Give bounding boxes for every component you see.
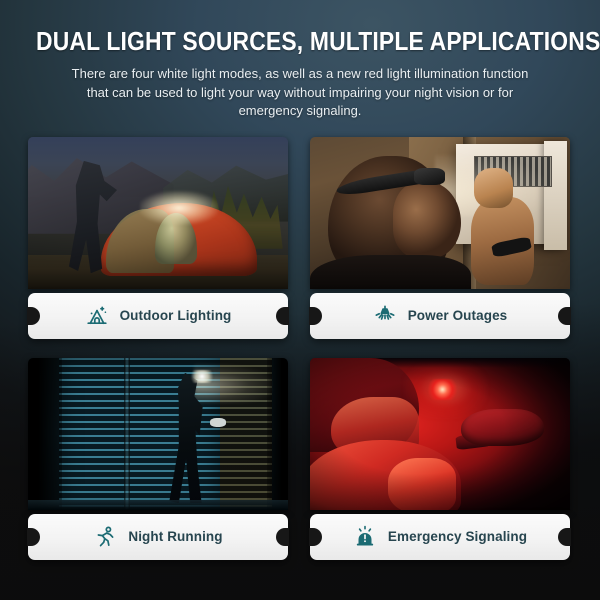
card-label-bar-power-outages: Power Outages [310, 293, 570, 339]
card-label-bar-emergency-signaling: Emergency Signaling [310, 514, 570, 560]
tent-icon [85, 304, 109, 328]
poster-header: DUAL LIGHT SOURCES, MULTIPLE APPLICATION… [0, 0, 600, 121]
card-label-night-running: Night Running [128, 529, 222, 544]
card-label-bar-night-running: Night Running [28, 514, 288, 560]
card-night-running[interactable]: Night Running [28, 358, 288, 560]
card-label-bar-outdoor-lighting: Outdoor Lighting [28, 293, 288, 339]
ticket-notch-right-icon [558, 307, 571, 325]
card-image-night-running [28, 358, 288, 510]
ceiling-lamp-icon [373, 304, 397, 328]
card-outdoor-lighting[interactable]: Outdoor Lighting [28, 137, 288, 339]
card-label-power-outages: Power Outages [408, 308, 508, 323]
ticket-notch-right-icon [276, 307, 289, 325]
card-label-outdoor-lighting: Outdoor Lighting [120, 308, 232, 323]
page-subtitle: There are four white light modes, as wel… [65, 65, 535, 121]
card-label-emergency-signaling: Emergency Signaling [388, 529, 527, 544]
card-image-power-outages [310, 137, 570, 289]
ticket-notch-right-icon [276, 528, 289, 546]
page-title: DUAL LIGHT SOURCES, MULTIPLE APPLICATION… [36, 26, 564, 56]
ticket-notch-right-icon [558, 528, 571, 546]
application-card-grid: Outdoor Lighting [28, 137, 572, 560]
card-emergency-signaling[interactable]: Emergency Signaling [310, 358, 570, 560]
running-person-icon [93, 525, 117, 549]
ticket-notch-left-icon [27, 307, 40, 325]
card-power-outages[interactable]: Power Outages [310, 137, 570, 339]
ticket-notch-left-icon [309, 307, 322, 325]
siren-alert-icon [353, 525, 377, 549]
ticket-notch-left-icon [27, 528, 40, 546]
card-image-emergency-signaling [310, 358, 570, 510]
product-feature-poster: DUAL LIGHT SOURCES, MULTIPLE APPLICATION… [0, 0, 600, 600]
card-image-outdoor-lighting [28, 137, 288, 289]
ticket-notch-left-icon [309, 528, 322, 546]
